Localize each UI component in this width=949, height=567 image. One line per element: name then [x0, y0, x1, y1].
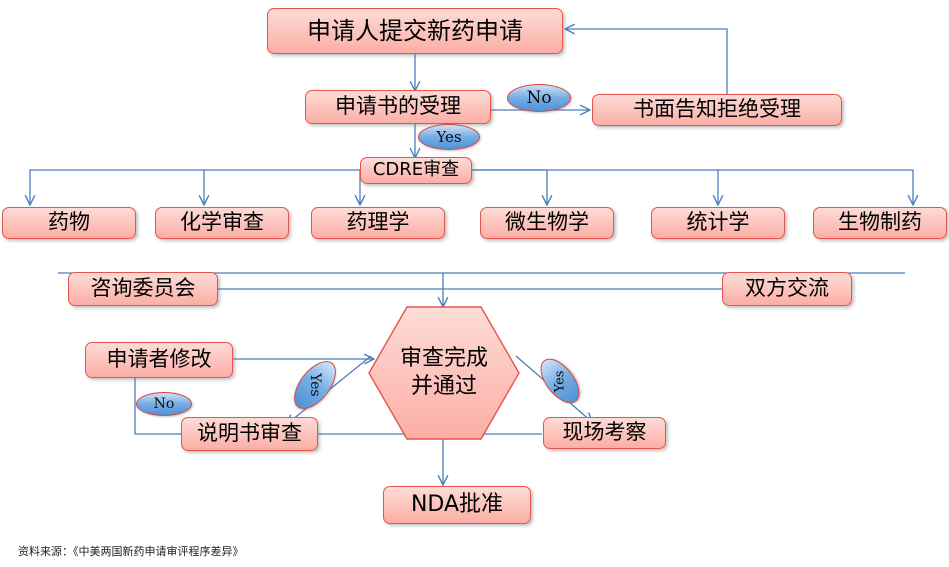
decision-yes-acceptance: Yes	[418, 124, 480, 150]
node-review-pass[interactable]: 审查完成并通过	[368, 306, 520, 440]
node-microbiology-label: 微生物学	[505, 211, 589, 235]
node-cdre-label: CDRE审查	[373, 160, 459, 180]
edge-cdre-drug	[30, 170, 360, 204]
flowchart-canvas: 申请人提交新药申请 申请书的受理 书面告知拒绝受理 CDRE审查 药物 化学审查…	[0, 0, 949, 567]
node-acceptance-label: 申请书的受理	[335, 95, 461, 119]
decision-yes-site-inspect-label: Yes	[552, 370, 567, 392]
decision-yes-label-review: Yes	[286, 354, 344, 417]
decision-yes-site-inspect: Yes	[533, 352, 587, 410]
decision-no-acceptance-label: No	[526, 88, 551, 108]
node-statistics-label: 统计学	[687, 211, 750, 235]
node-acceptance[interactable]: 申请书的受理	[305, 90, 491, 124]
node-pharmacology-label: 药理学	[347, 211, 410, 235]
node-applicant-revise[interactable]: 申请者修改	[85, 342, 233, 378]
decision-no-acceptance: No	[507, 84, 571, 112]
node-drug-label: 药物	[48, 211, 90, 235]
node-label-review[interactable]: 说明书审查	[181, 417, 318, 451]
decision-no-revise: No	[136, 392, 192, 416]
node-nda-approve-label: NDA批准	[411, 493, 503, 518]
node-pharmacology[interactable]: 药理学	[311, 207, 445, 239]
node-advisory-label: 咨询委员会	[91, 277, 196, 301]
node-cdre[interactable]: CDRE审查	[360, 157, 472, 184]
node-advisory[interactable]: 咨询委员会	[68, 272, 218, 306]
edge-cdre-biopharma	[472, 170, 913, 204]
node-chemistry[interactable]: 化学审查	[155, 207, 289, 239]
node-site-inspect-label: 现场考察	[563, 421, 647, 445]
node-label-review-label: 说明书审查	[197, 422, 302, 446]
edge-reject-submit	[566, 29, 727, 94]
node-reject[interactable]: 书面告知拒绝受理	[592, 94, 842, 126]
decision-no-revise-label: No	[154, 396, 175, 412]
node-reject-label: 书面告知拒绝受理	[633, 98, 801, 122]
edge-cdre-microbiology	[472, 170, 547, 204]
node-microbiology[interactable]: 微生物学	[480, 207, 614, 239]
node-drug[interactable]: 药物	[2, 207, 136, 239]
node-biopharma-label: 生物制药	[838, 211, 922, 235]
node-chemistry-label: 化学审查	[180, 211, 264, 235]
node-biopharma[interactable]: 生物制药	[813, 207, 947, 239]
decision-yes-label-review-label: Yes	[307, 373, 323, 397]
node-nda-approve[interactable]: NDA批准	[383, 486, 531, 524]
node-exchange-label: 双方交流	[745, 277, 829, 301]
source-note: 资料来源：《中美两国新药申请审评程序差异》	[18, 543, 244, 559]
node-site-inspect[interactable]: 现场考察	[543, 417, 666, 449]
node-exchange[interactable]: 双方交流	[722, 272, 852, 306]
node-submit-label: 申请人提交新药申请	[307, 18, 523, 45]
decision-yes-acceptance-label: Yes	[436, 128, 461, 146]
node-review-pass-label: 审查完成并通过	[396, 345, 492, 401]
node-submit[interactable]: 申请人提交新药申请	[267, 8, 563, 54]
node-statistics[interactable]: 统计学	[651, 207, 785, 239]
node-applicant-revise-label: 申请者修改	[107, 348, 212, 372]
